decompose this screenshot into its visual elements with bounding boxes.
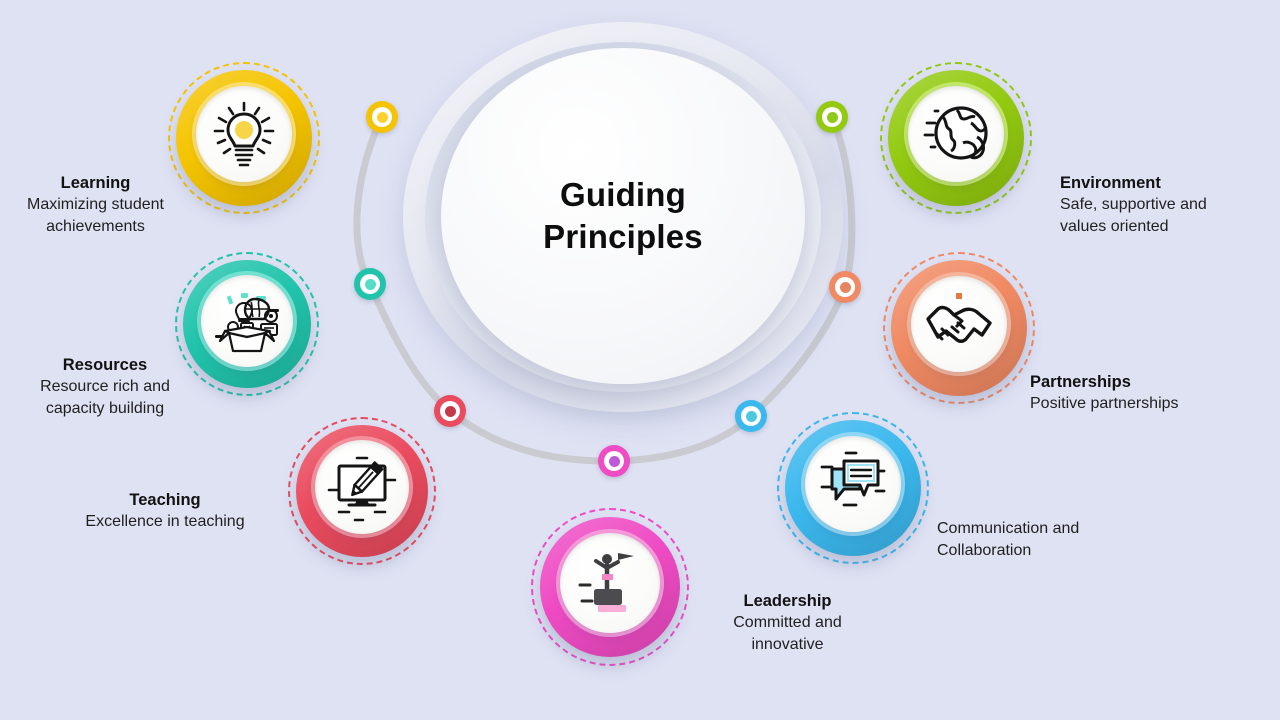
globe-icon — [919, 97, 993, 171]
connector-dot-teaching[interactable] — [434, 395, 466, 427]
learning-icon-face — [196, 86, 292, 182]
environment-desc-1: Safe, supportive and — [1060, 194, 1280, 216]
connector-dot-leadership[interactable] — [598, 445, 630, 477]
label-partnerships: Partnerships Positive partnerships — [1030, 371, 1280, 415]
page-title-line-1: Guiding — [543, 174, 703, 216]
page-title-line-2: Principles — [543, 216, 703, 258]
partnerships-title: Partnerships — [1030, 371, 1280, 393]
node-partnerships[interactable] — [883, 252, 1035, 404]
teaching-desc-1: Excellence in teaching — [40, 511, 290, 533]
node-leadership[interactable] — [531, 508, 689, 666]
resources-desc-2: capacity building — [10, 398, 200, 420]
environment-icon-face — [908, 86, 1004, 182]
label-resources: Resources Resource rich and capacity bui… — [10, 354, 200, 420]
learning-desc-1: Maximizing student — [8, 194, 183, 216]
connector-dot-learning[interactable] — [366, 101, 398, 133]
partnerships-icon-face — [911, 276, 1007, 372]
label-learning: Learning Maximizing student achievements — [8, 172, 183, 238]
person-podium-flag-icon — [572, 545, 648, 621]
resources-desc-1: Resource rich and — [10, 376, 200, 398]
teaching-icon-face — [315, 440, 409, 534]
handshake-icon — [922, 287, 996, 361]
node-communication[interactable] — [777, 412, 929, 564]
resources-icon-face — [201, 275, 293, 367]
connector-dot-communication[interactable] — [735, 400, 767, 432]
center-hub: Guiding Principles — [403, 22, 843, 412]
label-leadership: Leadership Committed and innovative — [690, 590, 885, 656]
open-box-ideas-icon — [211, 285, 283, 357]
label-environment: Environment Safe, supportive and values … — [1060, 172, 1280, 238]
hub-face: Guiding Principles — [441, 48, 805, 384]
communication-title: Communication and — [937, 518, 1187, 540]
infographic-canvas: Guiding Principles — [0, 0, 1280, 720]
leadership-icon-face — [560, 533, 660, 633]
connector-dot-resources[interactable] — [354, 268, 386, 300]
monitor-pencil-icon — [325, 450, 399, 524]
page-title: Guiding Principles — [543, 174, 703, 258]
learning-title: Learning — [8, 172, 183, 194]
resources-title: Resources — [10, 354, 200, 376]
label-teaching: Teaching Excellence in teaching — [40, 489, 290, 533]
speech-bubbles-icon — [816, 447, 890, 521]
teaching-title: Teaching — [40, 489, 290, 511]
environment-title: Environment — [1060, 172, 1280, 194]
lightbulb-icon — [207, 97, 281, 171]
connector-dot-partnerships[interactable] — [829, 271, 861, 303]
communication-icon-face — [805, 436, 901, 532]
learning-desc-2: achievements — [8, 216, 183, 238]
communication-desc-1: Collaboration — [937, 540, 1187, 562]
environment-desc-2: values oriented — [1060, 216, 1280, 238]
leadership-title: Leadership — [690, 590, 885, 612]
connector-dot-environment[interactable] — [816, 101, 848, 133]
node-learning[interactable] — [168, 62, 320, 214]
label-communication: Communication and Collaboration — [937, 518, 1187, 562]
node-environment[interactable] — [880, 62, 1032, 214]
leadership-desc-2: innovative — [690, 634, 885, 656]
leadership-desc-1: Committed and — [690, 612, 885, 634]
partnerships-desc-1: Positive partnerships — [1030, 393, 1280, 415]
node-teaching[interactable] — [288, 417, 436, 565]
